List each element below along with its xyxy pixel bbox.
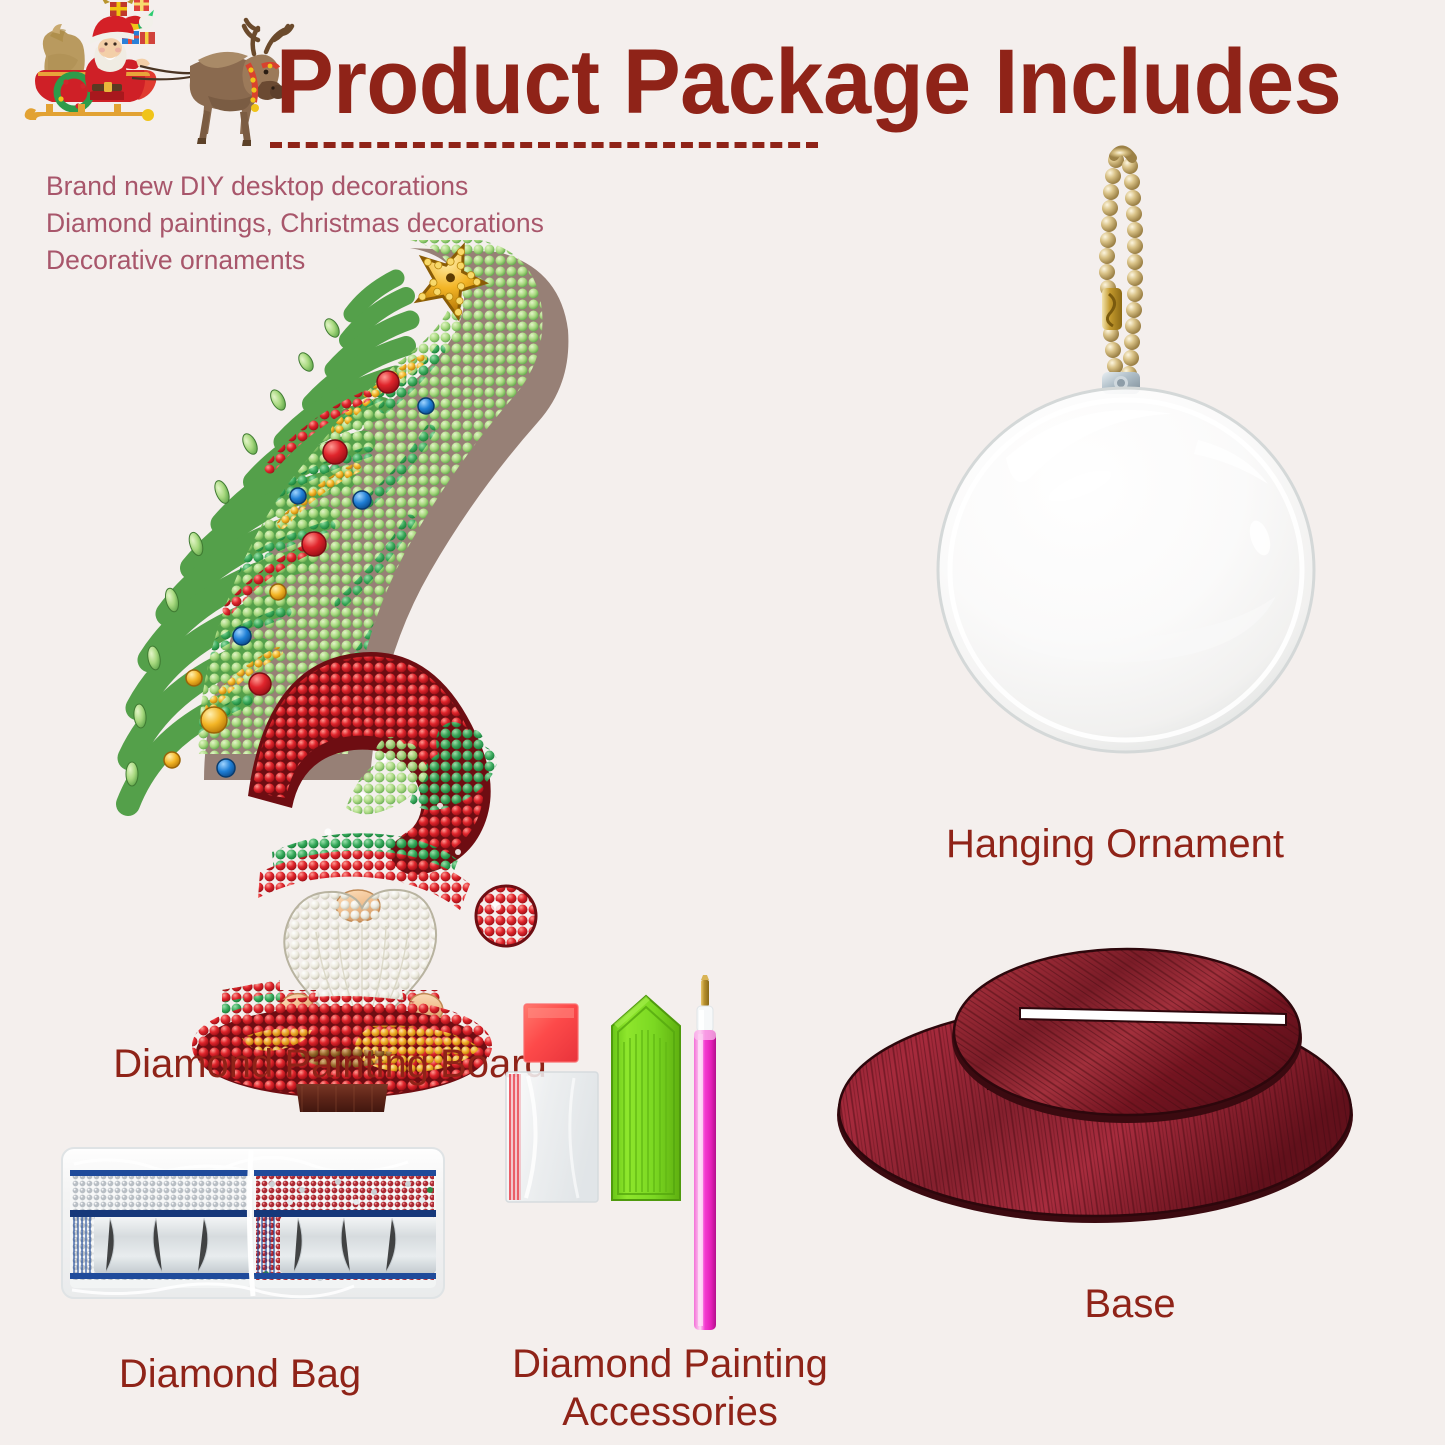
wax-square [524,1004,578,1062]
hanging-ornament-label: Hanging Ornament [880,820,1350,868]
diamond-bag-image [58,1138,448,1328]
diamond-painting-board-image [110,200,580,1030]
base-label: Base [950,1280,1310,1328]
title-divider [270,142,818,148]
base-image [830,930,1380,1270]
diamond-painting-accessories-label: Diamond Painting Accessories [430,1340,910,1436]
diamond-painting-accessories-image [500,980,820,1330]
green-tray [612,996,680,1200]
zip-bag [506,1072,598,1202]
page-title: Product Package Includes [276,30,1357,134]
chain-clasp-icon [1102,288,1122,330]
bag-silver [70,1168,250,1288]
infographic-canvas: Product Package Includes Brand new DIY d… [0,0,1445,1445]
base-top-disc [952,949,1302,1123]
diamond-bag-label: Diamond Bag [30,1350,450,1398]
bag-colored [254,1168,436,1288]
hanging-ornament-image [930,140,1330,820]
santa-sleigh-reindeer-icon [22,0,288,146]
ball-chain-icon [1099,150,1143,382]
clear-acrylic-disc [938,388,1314,752]
drill-pen [694,975,716,1330]
